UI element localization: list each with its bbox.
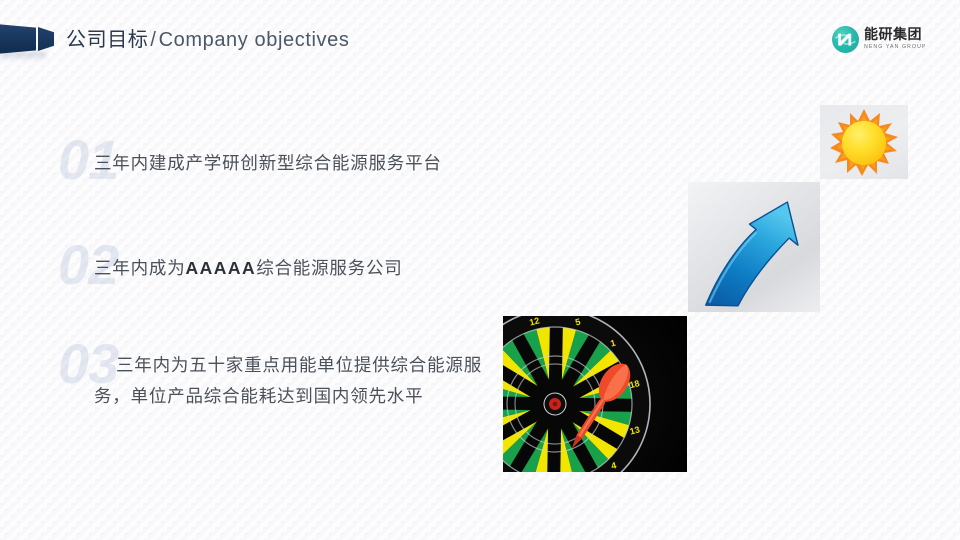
objective-text-2-after: 综合能源服务公司 xyxy=(256,258,402,278)
logo-name-en: NENG YAN GROUP xyxy=(864,43,926,51)
ribbon-segment-right xyxy=(38,27,54,51)
growth-arrow-photo xyxy=(688,182,820,312)
slide-canvas: 公司目标/Company objectives 能研集团 NENG YAN GR… xyxy=(0,0,960,540)
objective-text-1: 三年内建成产学研创新型综合能源服务平台 xyxy=(94,148,564,179)
page-title-cn: 公司目标 xyxy=(66,29,148,51)
ribbon-shadow xyxy=(0,52,46,61)
page-title-separator: / xyxy=(148,29,158,51)
objective-text-2-before: 三年内成为 xyxy=(94,258,186,278)
logo-name-cn: 能研集团 xyxy=(864,27,926,42)
logo-mark-icon xyxy=(832,26,859,53)
title-ribbon-decoration xyxy=(0,22,58,58)
page-title: 公司目标/Company objectives xyxy=(66,25,349,55)
dartboard-photo: 12 5 1 18 13 4 9 14 xyxy=(503,316,687,472)
upward-blue-arrow-icon xyxy=(688,182,820,312)
company-logo: 能研集团 NENG YAN GROUP xyxy=(832,22,926,56)
objective-text-2: 三年内成为AAAAA综合能源服务公司 xyxy=(94,253,564,284)
logo-text-block: 能研集团 NENG YAN GROUP xyxy=(864,27,926,51)
sun-icon xyxy=(820,105,908,179)
dartboard-with-red-dart-icon: 12 5 1 18 13 4 9 14 xyxy=(503,316,687,472)
page-title-en: Company objectives xyxy=(159,29,350,51)
sun-photo xyxy=(820,105,908,179)
ribbon-segment-left xyxy=(0,24,36,54)
logo-n-glyph-icon xyxy=(832,26,859,53)
objective-text-3: 三年内为五十家重点用能单位提供综合能源服务，单位产品综合能耗达到国内领先水平 xyxy=(94,350,494,412)
objective-text-2-emphasis: AAAAA xyxy=(186,258,257,278)
